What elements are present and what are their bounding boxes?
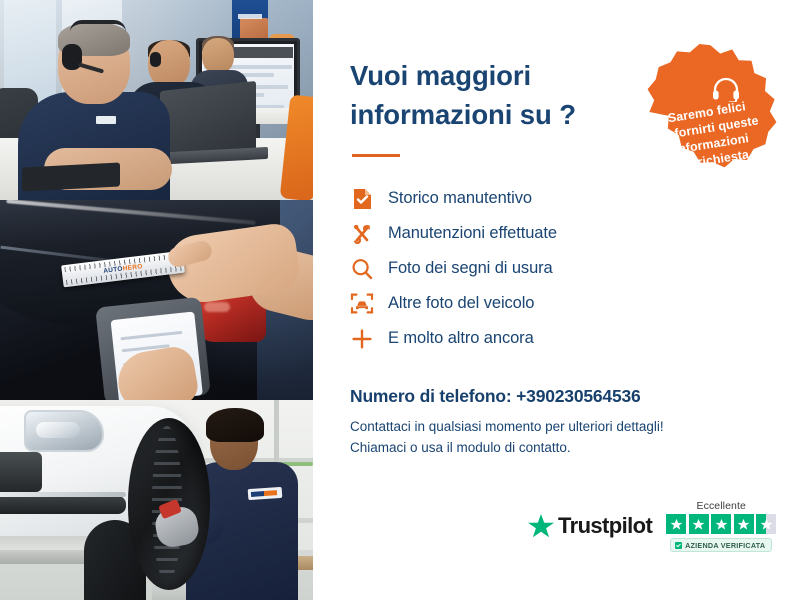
agent-1-headband xyxy=(70,20,126,32)
star-half xyxy=(756,514,776,534)
headline-line-1: Vuoi maggiori xyxy=(350,60,531,91)
star-full xyxy=(711,514,731,534)
agent-2-headset xyxy=(150,52,161,67)
feature-item-altre-foto-veicolo: Altre foto del veicolo xyxy=(350,286,766,321)
trustpilot-logo: Trustpilot xyxy=(528,513,652,539)
banner-text-strip xyxy=(238,14,262,19)
star-rating xyxy=(666,514,776,534)
agent-3-head xyxy=(202,38,234,74)
rating-label: Eccellente xyxy=(696,500,745,512)
check-icon xyxy=(675,542,682,549)
info-on-request-badge: Saremo felici di fornirti queste informa… xyxy=(629,42,792,204)
tail-light xyxy=(196,296,266,342)
feature-label: Manutenzioni effettuate xyxy=(388,224,557,243)
feature-list: Storico manutentivo Manutenzioni effettu… xyxy=(350,181,766,356)
star-full xyxy=(689,514,709,534)
verified-label: AZIENDA VERIFICATA xyxy=(685,541,765,550)
title-divider xyxy=(352,154,400,157)
trustpilot-wordmark: Trustpilot xyxy=(558,513,652,539)
contact-block: Numero di telefono: +390230564536 Contat… xyxy=(350,386,766,459)
car-grille xyxy=(0,452,42,492)
feature-label: Storico manutentivo xyxy=(388,189,532,208)
desk-tablet xyxy=(22,162,120,191)
agent-1-badge xyxy=(96,116,116,124)
feature-item-manutenzioni-effettuate: Manutenzioni effettuate xyxy=(350,216,766,251)
star-full xyxy=(734,514,754,534)
vehicle-inspection-photo: AUTOHERO xyxy=(0,200,313,400)
mechanic-uniform-logo xyxy=(248,487,283,500)
promo-banner: AUTOHERO xyxy=(0,0,800,600)
car-lower-grille xyxy=(0,496,126,514)
feature-item-foto-segni-usura: Foto dei segni di usura xyxy=(350,251,766,286)
headline-line-2: informazioni su ? xyxy=(350,99,576,130)
feature-label: Altre foto del veicolo xyxy=(388,294,534,313)
contact-line-1: Contattaci in qualsiasi momento per ulte… xyxy=(350,419,664,434)
contact-description: Contattaci in qualsiasi momento per ulte… xyxy=(350,417,720,459)
call-center-agents-photo xyxy=(0,0,313,200)
mechanic-tire-check-photo xyxy=(0,400,313,600)
trustpilot-star-icon xyxy=(528,514,554,539)
phone-number-title: Numero di telefono: +390230564536 xyxy=(350,386,766,407)
magnifier-icon xyxy=(350,257,374,281)
trustpilot-widget[interactable]: Trustpilot Eccellente xyxy=(528,500,776,552)
trustpilot-rating: Eccellente xyxy=(666,500,776,552)
document-check-icon xyxy=(350,187,374,211)
tools-wrench-screwdriver-icon xyxy=(350,222,374,246)
feature-label: Foto dei segni di usura xyxy=(388,259,553,278)
feature-label: E molto altro ancora xyxy=(388,329,534,348)
photo-column: AUTOHERO xyxy=(0,0,313,600)
tablet-row xyxy=(120,331,182,340)
plus-icon xyxy=(350,327,374,351)
verified-company-badge: AZIENDA VERIFICATA xyxy=(670,538,772,552)
car-scan-icon xyxy=(350,292,374,316)
contact-line-2: Chiamaci o usa il modulo di contatto. xyxy=(350,440,571,455)
chrome-trim xyxy=(0,492,126,497)
car-headlight xyxy=(24,410,104,452)
page-title: Vuoi maggiori informazioni su ? xyxy=(350,56,620,134)
mechanic-hair xyxy=(206,408,264,442)
star-full xyxy=(666,514,686,534)
feature-item-molto-altro: E molto altro ancora xyxy=(350,321,766,356)
